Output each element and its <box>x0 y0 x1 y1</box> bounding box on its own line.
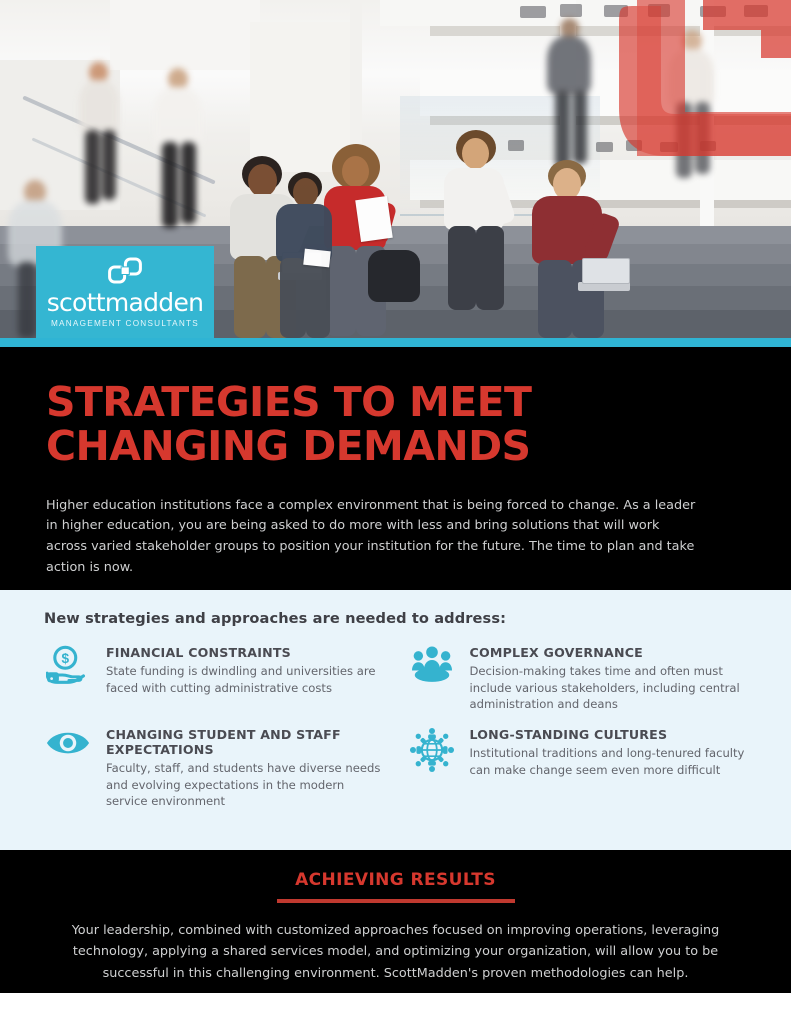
blurred-person <box>664 30 722 180</box>
feature-title: COMPLEX GOVERNANCE <box>470 645 748 660</box>
features-section: New strategies and approaches are needed… <box>0 590 791 850</box>
results-underline <box>277 899 515 903</box>
eye-icon <box>44 725 92 771</box>
feature-description: Institutional traditions and long-tenure… <box>470 745 748 778</box>
interlocking-squares-mark <box>108 257 142 287</box>
blurred-person <box>150 68 210 236</box>
scottmadden-logo[interactable]: scottmadden MANAGEMENT CONSULTANTS <box>36 246 214 338</box>
features-grid: $ FINANCIAL CONSTRAINTS State funding is… <box>44 643 747 810</box>
seated-student <box>274 172 350 338</box>
furniture-blip <box>700 6 726 17</box>
feature-long-standing-cultures: LONG-STANDING CULTURES Institutional tra… <box>408 725 748 810</box>
furniture-blip <box>626 140 642 151</box>
blurred-person <box>544 18 600 170</box>
results-section: ACHIEVING RESULTS Your leadership, combi… <box>0 850 791 993</box>
furniture-blip <box>560 4 582 17</box>
feature-changing-expectations: CHANGING STUDENT AND STAFF EXPECTATIONS … <box>44 725 384 810</box>
furniture-blip <box>744 5 768 17</box>
hero-banner: scottmadden MANAGEMENT CONSULTANTS <box>0 0 791 338</box>
backpack <box>368 250 422 306</box>
headline-body-text: Higher education institutions face a com… <box>46 496 696 579</box>
feature-complex-governance: COMPLEX GOVERNANCE Decision-making takes… <box>408 643 748 713</box>
furniture-blip <box>604 5 628 17</box>
features-heading: New strategies and approaches are needed… <box>44 610 747 627</box>
seated-student <box>528 160 632 338</box>
globe-network-icon <box>408 725 456 771</box>
page-title: STRATEGIES TO MEET CHANGING DEMANDS <box>46 381 745 469</box>
blurred-person <box>75 62 129 212</box>
building-slab <box>430 26 791 36</box>
feature-title: FINANCIAL CONSTRAINTS <box>106 645 384 660</box>
feature-text: LONG-STANDING CULTURES Institutional tra… <box>470 725 748 778</box>
headline-section: STRATEGIES TO MEET CHANGING DEMANDS High… <box>0 347 791 590</box>
building-slab <box>110 0 260 70</box>
svg-text:$: $ <box>61 651 69 666</box>
feature-description: Decision-making takes time and often mus… <box>470 663 748 712</box>
feature-text: FINANCIAL CONSTRAINTS State funding is d… <box>106 643 384 696</box>
feature-financial-constraints: $ FINANCIAL CONSTRAINTS State funding is… <box>44 643 384 713</box>
results-body-text: Your leadership, combined with customize… <box>56 920 735 984</box>
feature-description: Faculty, staff, and students have divers… <box>106 760 384 809</box>
hand-holding-coin-icon: $ <box>44 643 92 689</box>
results-heading: ACHIEVING RESULTS <box>56 870 735 890</box>
feature-text: COMPLEX GOVERNANCE Decision-making takes… <box>470 643 748 713</box>
seated-student <box>440 130 526 310</box>
people-meeting-icon <box>408 643 456 689</box>
page-footer <box>0 993 791 1032</box>
logo-tagline: MANAGEMENT CONSULTANTS <box>51 319 199 328</box>
logo-wordmark: scottmadden <box>47 290 204 315</box>
feature-description: State funding is dwindling and universit… <box>106 663 384 696</box>
feature-text: CHANGING STUDENT AND STAFF EXPECTATIONS … <box>106 725 384 810</box>
headline-line-2: CHANGING DEMANDS <box>46 425 745 469</box>
headline-line-1: STRATEGIES TO MEET <box>46 378 531 426</box>
feature-title: LONG-STANDING CULTURES <box>470 727 748 742</box>
cyan-divider <box>0 338 791 347</box>
furniture-blip <box>520 6 546 18</box>
furniture-blip <box>648 4 670 17</box>
feature-title: CHANGING STUDENT AND STAFF EXPECTATIONS <box>106 727 384 758</box>
